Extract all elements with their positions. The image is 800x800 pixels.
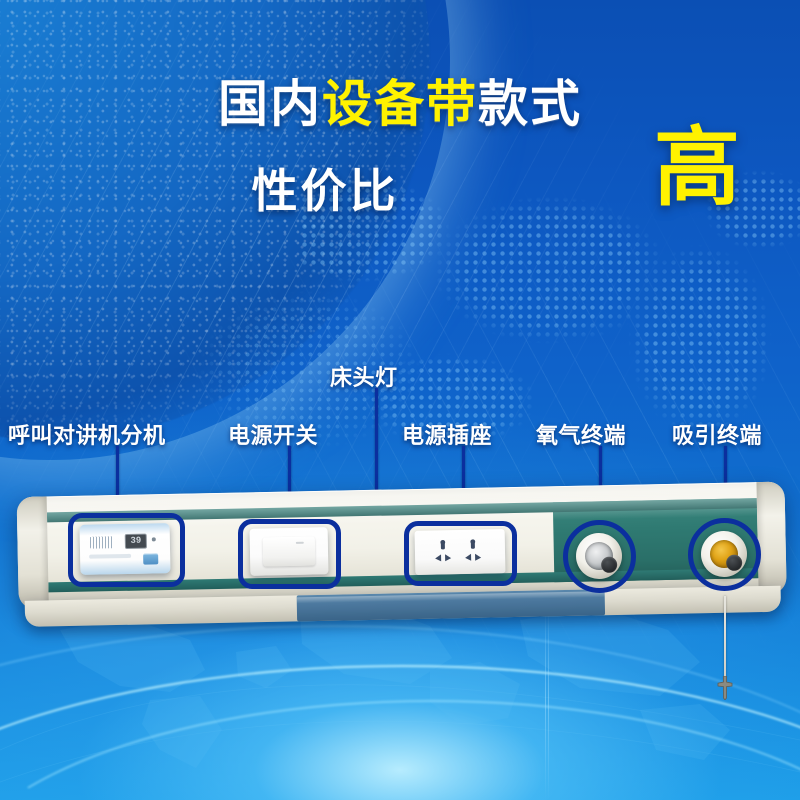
nurse-call-intercom-unit[interactable]: 39 — [80, 523, 171, 575]
suction-port-hole-icon — [726, 555, 742, 571]
rocker-switch-icon[interactable] — [263, 536, 316, 566]
intercom-call-button[interactable] — [143, 553, 158, 564]
socket-pins-icon — [433, 538, 490, 567]
status-led-icon — [152, 537, 156, 541]
speaker-grille-icon — [90, 536, 114, 548]
callout-layer: 呼叫对讲机分机 电源开关 床头灯 电源插座 氧气终端 吸引终端 — [0, 0, 800, 800]
power-light-switch[interactable] — [250, 527, 329, 576]
suction-port-ring — [710, 540, 739, 569]
panel-end-cap-left — [17, 496, 49, 609]
power-socket-outlet[interactable] — [415, 529, 506, 575]
panel-end-cap-right — [756, 482, 786, 595]
oxygen-port-ring — [585, 542, 614, 571]
intercom-label-strip — [89, 554, 131, 559]
intercom-display: 39 — [125, 534, 147, 549]
callout-label-oxygen: 氧气终端 — [536, 418, 626, 450]
callout-label-bed-lamp: 床头灯 — [330, 360, 398, 392]
promo-banner-canvas: 国内设备带款式 性价比 高 呼叫对讲机分机 电源开关 床头灯 电源插座 氧气终端… — [0, 0, 800, 800]
callout-label-socket: 电源插座 — [402, 418, 492, 450]
callout-label-intercom: 呼叫对讲机分机 — [8, 418, 166, 450]
callout-label-switch: 电源开关 — [228, 418, 318, 450]
callout-label-suction: 吸引终端 — [672, 418, 762, 450]
panel-rail-blue-segment — [297, 589, 605, 621]
cross-weight-icon — [716, 676, 734, 700]
oxygen-port-hole-icon — [601, 557, 617, 573]
pull-cord-string[interactable] — [724, 596, 726, 680]
pull-cord-handle[interactable] — [716, 676, 734, 700]
